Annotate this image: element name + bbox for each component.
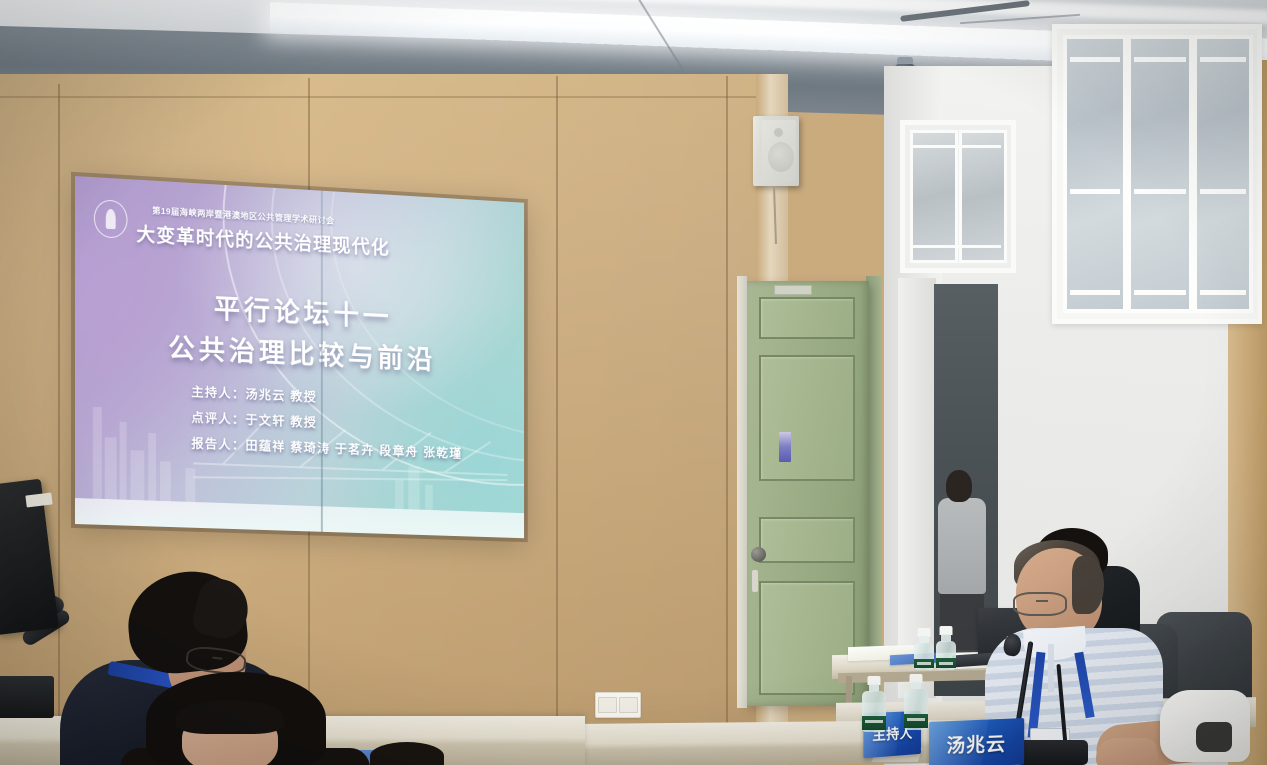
bag-under-cloth	[1196, 722, 1232, 752]
wall-panel-seam	[726, 76, 728, 736]
projection-screen: 第19届海峡两岸暨港澳地区公共管理学术研讨会 大变革时代的公共治理现代化 平行论…	[75, 176, 524, 538]
door-panel-upper	[759, 355, 855, 481]
monitor-stand-foot	[0, 676, 54, 718]
water-bottle[interactable]	[914, 628, 934, 670]
window-mullion	[1200, 290, 1246, 295]
presentation-slide: 第19届海峡两岸暨港澳地区公共管理学术研讨会 大变革时代的公共治理现代化 平行论…	[75, 176, 524, 538]
seated-speaker-glasses	[1013, 592, 1067, 616]
person-in-doorway-body	[938, 498, 986, 594]
green-door[interactable]	[745, 281, 869, 706]
window-mullion	[1134, 57, 1185, 62]
window-pane	[910, 130, 958, 263]
window-mullion	[1070, 290, 1119, 295]
water-bottle[interactable]	[936, 626, 956, 670]
power-outlet[interactable]	[595, 692, 641, 718]
door-sticker	[779, 432, 791, 462]
wall-panel-seam	[0, 96, 756, 98]
window-pane	[959, 130, 1007, 263]
door-panel-top	[759, 297, 855, 339]
window-pane	[1193, 35, 1253, 313]
person-in-doorway-head	[946, 470, 972, 502]
window-mullion	[1070, 57, 1119, 62]
microphone-base[interactable]	[1016, 740, 1088, 765]
window-pane	[1127, 35, 1193, 313]
water-bottle[interactable]	[904, 674, 928, 730]
speaker-tweeter	[774, 128, 783, 137]
window-mullion	[1134, 290, 1185, 295]
conference-room-photo: 第19届海峡两岸暨港澳地区公共管理学术研讨会 大变革时代的公共治理现代化 平行论…	[0, 0, 1267, 765]
water-bottle[interactable]	[862, 676, 886, 732]
foreground-third-person-head	[370, 742, 444, 765]
window-small	[900, 120, 1016, 273]
window-pane	[1063, 35, 1127, 313]
nameplate-speaker-name[interactable]: 汤兆云	[929, 718, 1024, 765]
seated-speaker-hand	[1096, 738, 1158, 765]
speaker-cone	[768, 142, 794, 172]
window-mullion	[1070, 189, 1119, 194]
wall-speaker	[753, 116, 799, 186]
seated-speaker-placket	[1048, 644, 1054, 692]
window-large	[1052, 24, 1262, 324]
seated-speaker-hair-side	[1072, 556, 1104, 614]
door-knob-icon[interactable]	[751, 547, 766, 562]
window-mullion	[910, 145, 1001, 148]
door-jamb-left	[737, 276, 747, 708]
foreground-woman-fringe	[176, 700, 284, 734]
window-mullion	[1200, 57, 1246, 62]
screen-panel-seam	[321, 191, 323, 532]
wall-panel-seam	[556, 76, 558, 748]
window-mullion	[1134, 189, 1185, 194]
window-mullion	[910, 245, 1001, 248]
door-lock-plate	[752, 570, 758, 592]
slide-bridge-graphic	[193, 415, 507, 509]
window-mullion	[1200, 189, 1246, 194]
door-panel-mid	[759, 517, 855, 563]
door-top-plate	[774, 285, 812, 295]
